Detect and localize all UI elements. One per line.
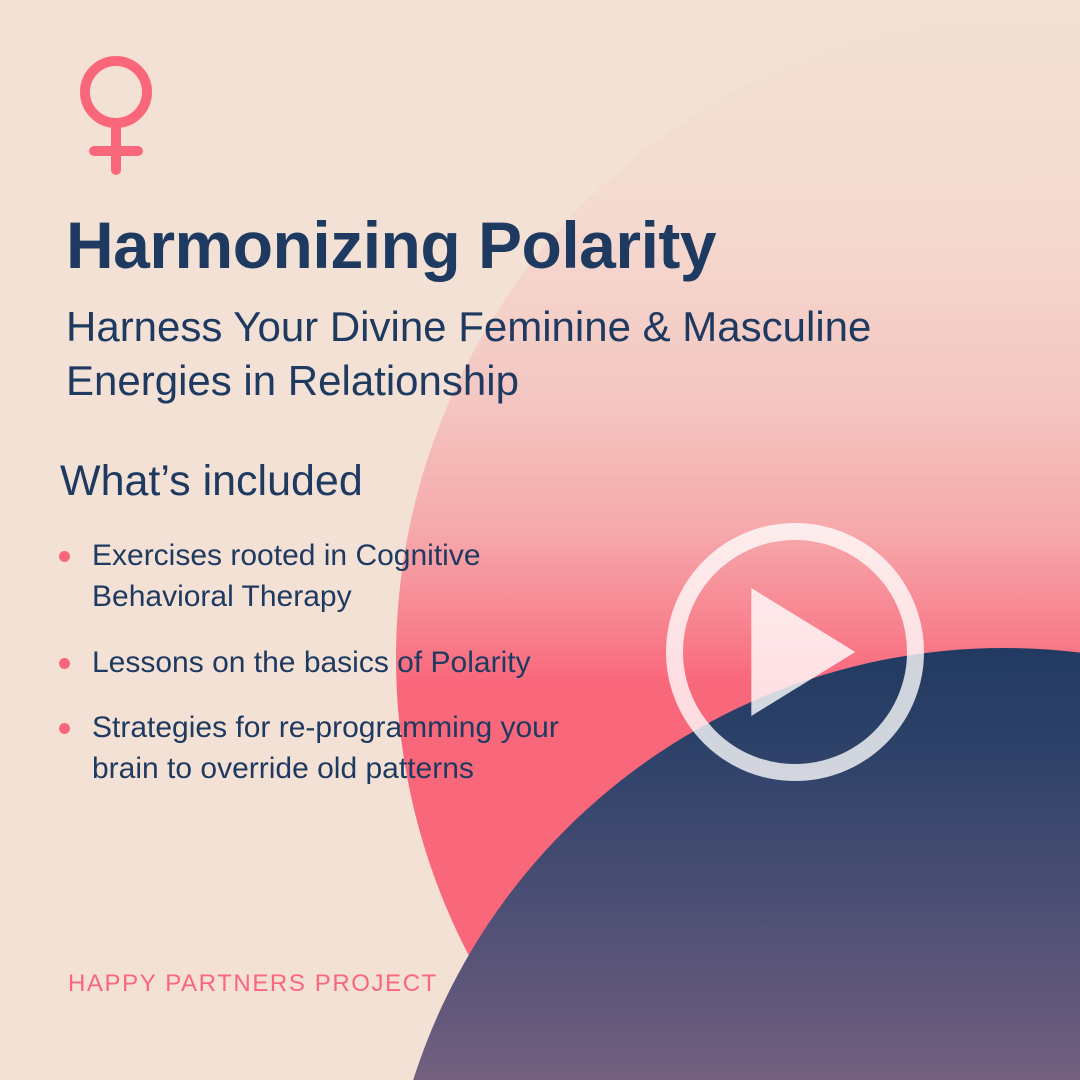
- promo-card: Harmonizing Polarity Harness Your Divine…: [0, 0, 1080, 1080]
- bullet-dot-icon: [59, 658, 70, 669]
- section-heading-whats-included: What’s included: [60, 458, 363, 505]
- venus-female-symbol-icon: [68, 52, 164, 176]
- page-subtitle: Harness Your Divine Feminine & Masculine…: [66, 300, 896, 408]
- included-list: Exercises rooted in Cognitive Behavioral…: [55, 536, 575, 790]
- list-item-label: Exercises rooted in Cognitive Behavioral…: [92, 539, 481, 613]
- list-item: Lessons on the basics of Polarity: [55, 643, 575, 684]
- page-title: Harmonizing Polarity: [66, 212, 716, 278]
- list-item: Strategies for re-programming your brain…: [55, 708, 575, 790]
- content-layer: Harmonizing Polarity Harness Your Divine…: [0, 0, 1080, 1080]
- list-item-label: Strategies for re-programming your brain…: [92, 711, 559, 785]
- bullet-dot-icon: [59, 723, 70, 734]
- list-item: Exercises rooted in Cognitive Behavioral…: [55, 536, 575, 618]
- bullet-dot-icon: [59, 551, 70, 562]
- footer-brand-name: HAPPY PARTNERS PROJECT: [68, 970, 438, 998]
- list-item-label: Lessons on the basics of Polarity: [92, 646, 531, 679]
